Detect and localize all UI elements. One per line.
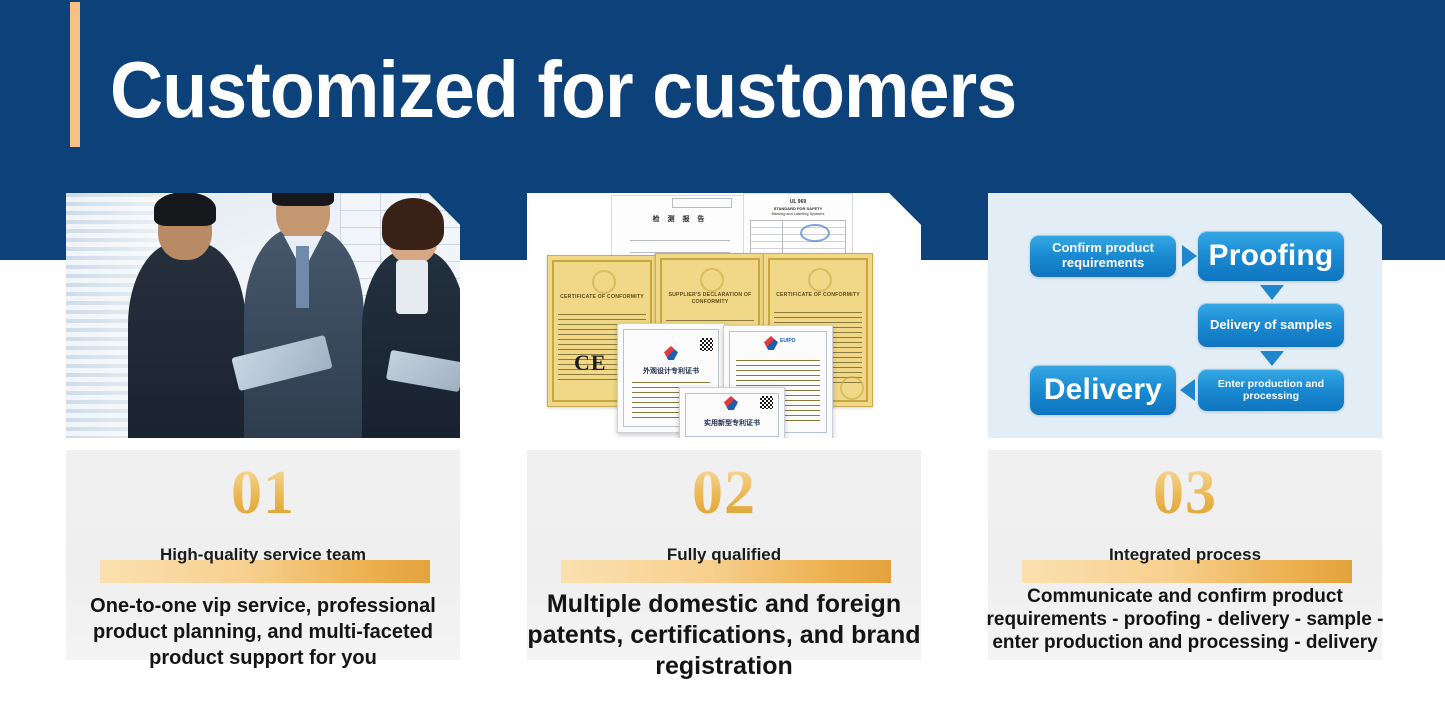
- flow-step-proofing[interactable]: Proofing: [1198, 231, 1344, 281]
- card-1[interactable]: 01 High-quality service team One-to-one …: [66, 193, 460, 663]
- card-2-number: 02: [527, 462, 921, 524]
- card-3-media: Confirm product requirements Proofing De…: [988, 193, 1382, 438]
- slide-root: Customized for customers: [0, 0, 1445, 722]
- flow-step-delivery[interactable]: Delivery: [1030, 365, 1176, 415]
- card-2-description: Multiple domestic and foreign patents, c…: [517, 589, 931, 682]
- euipo-label: EUIPO: [780, 338, 832, 344]
- flow-step-confirm[interactable]: Confirm product requirements: [1030, 235, 1176, 277]
- flow-arrow-down-2: [1260, 351, 1284, 366]
- patent-title-2: 实用新型专利证书: [680, 418, 784, 428]
- patent-logo-icon-2: [724, 396, 738, 410]
- flow-arrow-down-1: [1260, 285, 1284, 300]
- business-team-photo: [66, 193, 460, 438]
- card-1-description: One-to-one vip service, professional pro…: [56, 593, 470, 671]
- report-title-cn: 检 测 报 告: [612, 214, 748, 224]
- flow-arrow-right-1: [1182, 245, 1197, 267]
- certificate-3-title: CERTIFICATE OF CONFORMITY: [770, 292, 866, 299]
- card-2-media: 检 测 报 告 UL 969 STANDARD FOR SAFETY Marki…: [527, 193, 921, 438]
- ul-doc-title: UL 969: [744, 199, 852, 205]
- card-3-description: Communicate and confirm product requirem…: [978, 585, 1392, 654]
- card-1-number: 01: [66, 462, 460, 524]
- person-right: [362, 250, 460, 438]
- patent-logo-icon: [664, 346, 678, 360]
- certificate-1-title: CERTIFICATE OF CONFORMITY: [554, 294, 650, 301]
- qr-code-icon: [700, 338, 713, 351]
- flow-arrow-left-1: [1180, 379, 1195, 401]
- flow-step-samples[interactable]: Delivery of samples: [1198, 303, 1344, 347]
- card-3[interactable]: Confirm product requirements Proofing De…: [988, 193, 1382, 663]
- euipo-logo-icon: [764, 336, 778, 350]
- ce-mark: CE: [574, 350, 607, 376]
- card-2-subtitle: Fully qualified: [527, 544, 921, 566]
- certificates-collage: 检 测 报 告 UL 969 STANDARD FOR SAFETY Marki…: [527, 193, 921, 438]
- blue-stamp: [800, 224, 830, 242]
- flow-step-production[interactable]: Enter production and processing: [1198, 369, 1344, 411]
- patent-title-1: 外观设计专利证书: [618, 366, 724, 376]
- cards-container: 01 High-quality service team One-to-one …: [0, 0, 1445, 722]
- card-1-media: [66, 193, 460, 438]
- card-3-subtitle: Integrated process: [988, 544, 1382, 566]
- person-center: [244, 228, 364, 438]
- person-left: [128, 242, 246, 438]
- card-3-number: 03: [988, 462, 1382, 524]
- qr-code-icon-2: [760, 396, 773, 409]
- card-2[interactable]: 检 测 报 告 UL 969 STANDARD FOR SAFETY Marki…: [527, 193, 921, 663]
- process-flow-diagram: Confirm product requirements Proofing De…: [988, 193, 1382, 438]
- patent-certificate-utility: 实用新型专利证书: [679, 387, 785, 438]
- card-1-subtitle: High-quality service team: [66, 544, 460, 566]
- certificate-2-title: SUPPLIER'S DECLARATION OF CONFORMITY: [662, 292, 758, 306]
